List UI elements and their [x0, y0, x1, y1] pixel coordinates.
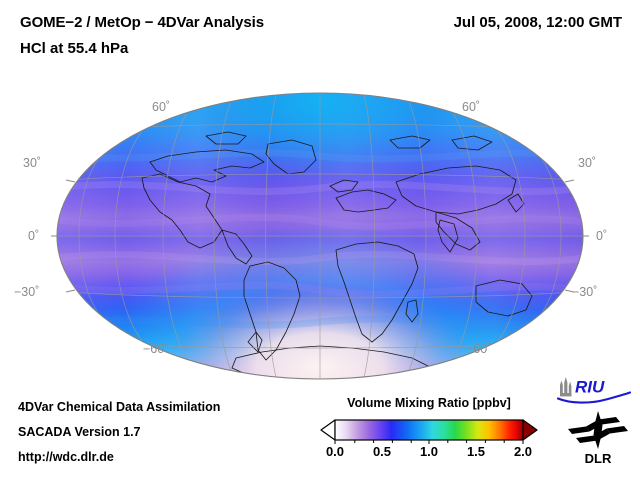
lat-label-left-60: 60˚: [152, 100, 170, 114]
dlr-wordmark: DLR: [585, 451, 612, 466]
data-field: [57, 93, 583, 380]
lat-label-right-m30: −30˚: [572, 285, 597, 299]
footer-line-version: SACADA Version 1.7: [18, 425, 141, 439]
riu-logo: RIU: [556, 374, 634, 404]
analysis-datetime: Jul 05, 2008, 12:00 GMT: [454, 14, 622, 31]
colorbar-over-arrow: [523, 420, 537, 440]
riu-wordmark: RIU: [575, 378, 605, 397]
lat-label-right-30: 30˚: [578, 156, 596, 170]
lat-label-right-m60: −60˚: [466, 342, 491, 356]
colorbar-under-arrow: [321, 420, 335, 440]
colorbar-tick-0: 0.0: [317, 444, 353, 459]
colorbar: Volume Mixing Ratio [ppbv]: [318, 396, 540, 472]
colorbar-tick-1: 0.5: [364, 444, 400, 459]
lat-label-left-m30: −30˚: [14, 285, 39, 299]
instrument-title: GOME−2 / MetOp − 4DVar Analysis: [20, 14, 264, 31]
riu-tower-icon: [560, 377, 571, 396]
colorbar-title: Volume Mixing Ratio [ppbv]: [318, 396, 540, 410]
lat-label-right-60: 60˚: [462, 100, 480, 114]
lat-label-left-m60: −60˚: [143, 342, 168, 356]
species-level-title: HCl at 55.4 hPa: [20, 40, 128, 57]
colorbar-ramp: [335, 420, 523, 440]
colorbar-tick-2: 1.0: [411, 444, 447, 459]
colorbar-tick-3: 1.5: [458, 444, 494, 459]
colorbar-tick-4: 2.0: [505, 444, 541, 459]
figure-root: GOME−2 / MetOp − 4DVar Analysis HCl at 5…: [0, 0, 640, 480]
dlr-mark-icon: [568, 411, 628, 449]
footer-line-url[interactable]: http://wdc.dlr.de: [18, 450, 114, 464]
lat-label-left-30: 30˚: [23, 156, 41, 170]
mollweide-map: 60˚ 30˚ 0˚ −30˚ −60˚ 60˚ 30˚ 0˚ −30˚ −60…: [0, 70, 640, 380]
lat-label-right-0: 0˚: [596, 229, 607, 243]
dlr-logo: DLR: [564, 410, 632, 466]
footer-line-assimilation: 4DVar Chemical Data Assimilation: [18, 400, 220, 414]
colorbar-svg: [318, 418, 540, 444]
lat-label-left-0: 0˚: [28, 229, 39, 243]
map-svg: [0, 70, 640, 380]
